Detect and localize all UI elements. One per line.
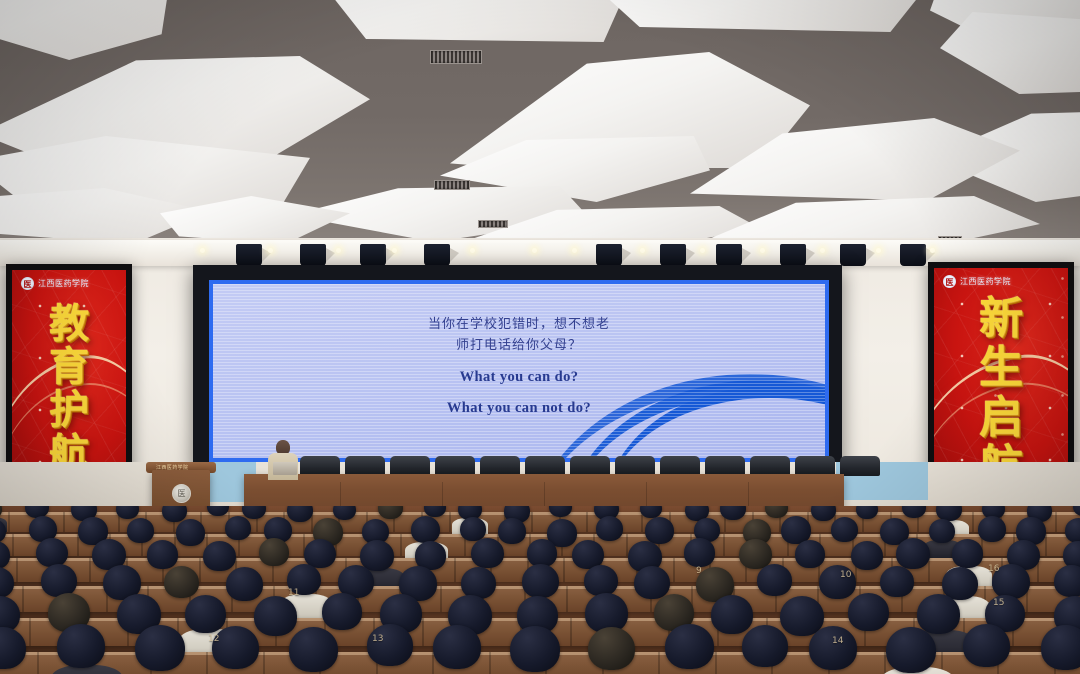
school-wordmark: 江西医药学院 bbox=[38, 278, 89, 289]
presentation-slide: 当你在学校犯错时，想不想老 师打电话给你父母？ What you can do?… bbox=[213, 284, 825, 458]
ceiling-downlight bbox=[532, 248, 537, 253]
banner-logo: 医 江西医药学院 bbox=[21, 277, 89, 290]
seat-divider bbox=[89, 558, 91, 582]
audience-head bbox=[952, 539, 983, 568]
audience-head bbox=[757, 564, 792, 596]
seat-number: 16 bbox=[988, 564, 999, 574]
stage-spotlight bbox=[660, 244, 686, 266]
seat-divider bbox=[563, 558, 565, 582]
audience-head bbox=[929, 519, 955, 543]
seat-divider bbox=[206, 652, 208, 674]
seat-divider bbox=[16, 558, 18, 582]
seat-divider bbox=[29, 618, 31, 646]
audience-head bbox=[127, 518, 154, 543]
audience-head bbox=[254, 596, 297, 636]
audience-head bbox=[896, 538, 930, 569]
audience-head bbox=[212, 626, 259, 669]
seat-number: 9 bbox=[696, 566, 702, 576]
ceiling-panel bbox=[300, 0, 630, 42]
school-crest-icon: 医 bbox=[21, 277, 34, 290]
seat-divider bbox=[570, 618, 572, 646]
school-crest-icon: 医 bbox=[172, 484, 191, 503]
ceiling-panel bbox=[0, 0, 170, 60]
seat-divider bbox=[1045, 534, 1047, 556]
seat-divider bbox=[715, 652, 717, 674]
seat-divider bbox=[1055, 512, 1057, 532]
audience-head bbox=[851, 541, 883, 570]
audience-head bbox=[1054, 565, 1080, 597]
ceiling-downlight bbox=[200, 248, 205, 253]
stage-chair bbox=[840, 456, 880, 476]
audience-head bbox=[1065, 518, 1080, 543]
stage-spotlight bbox=[300, 244, 326, 266]
stage-spotlight bbox=[716, 244, 742, 266]
stage-chair bbox=[345, 456, 385, 476]
seat-divider bbox=[972, 512, 974, 532]
audience-head bbox=[963, 624, 1010, 667]
audience-head bbox=[742, 625, 788, 667]
audience-head bbox=[978, 516, 1006, 542]
left-banner-text: 教 育 护 航 bbox=[12, 304, 126, 475]
audience-head bbox=[809, 626, 857, 670]
audience-head bbox=[711, 595, 753, 634]
stage-chair bbox=[705, 456, 745, 476]
seat-divider bbox=[22, 586, 24, 612]
stage-chair bbox=[570, 456, 610, 476]
audience-head bbox=[147, 540, 178, 569]
banner-char: 教 bbox=[49, 304, 89, 345]
seat-divider bbox=[658, 652, 660, 674]
ceiling-downlight bbox=[336, 248, 341, 253]
ceiling-panel bbox=[600, 0, 930, 32]
auditorium-photo: 医 江西医药学院 教 育 护 航 医 江西医药学院 新 生 启 航 bbox=[0, 0, 1080, 674]
ceiling-downlight bbox=[876, 248, 881, 253]
audience-head bbox=[510, 626, 560, 672]
audience-head bbox=[471, 538, 504, 568]
stage-spotlight bbox=[236, 244, 262, 266]
audience-head bbox=[226, 567, 263, 601]
school-crest-icon: 医 bbox=[943, 275, 956, 288]
ceiling-downlight bbox=[820, 248, 825, 253]
seat-number: 12 bbox=[208, 634, 219, 644]
audience-head bbox=[36, 538, 68, 567]
stage-chair bbox=[525, 456, 565, 476]
audience-head bbox=[645, 517, 674, 544]
stage-spotlight bbox=[840, 244, 866, 266]
audience-head bbox=[185, 595, 226, 633]
seat-number: 14 bbox=[832, 636, 843, 646]
seat-divider bbox=[37, 652, 39, 674]
stage-spotlight bbox=[424, 244, 450, 266]
audience-head bbox=[498, 518, 526, 544]
ceiling-downlight bbox=[392, 248, 397, 253]
stage-chair bbox=[390, 456, 430, 476]
slide-en-line-1: What you can do? bbox=[213, 366, 825, 388]
stage-chair bbox=[795, 456, 835, 476]
air-vent-grille bbox=[430, 50, 482, 64]
stage-spotlight bbox=[900, 244, 926, 266]
seat-divider bbox=[12, 534, 14, 556]
stage-chair bbox=[300, 456, 340, 476]
air-vent-grille bbox=[478, 220, 508, 228]
audience-head bbox=[203, 541, 236, 571]
audience-head bbox=[135, 625, 185, 671]
school-wordmark: 江西医药学院 bbox=[960, 276, 1011, 287]
audience-head bbox=[164, 566, 199, 598]
audience-seating: 121314151191016 bbox=[0, 506, 1080, 674]
stage-spotlight bbox=[596, 244, 622, 266]
ceiling bbox=[0, 0, 1080, 252]
seat-divider bbox=[422, 618, 424, 646]
stage-chair bbox=[660, 456, 700, 476]
audience-head bbox=[1041, 625, 1080, 670]
seat-divider bbox=[440, 586, 442, 612]
ceiling-downlight bbox=[700, 248, 705, 253]
audience-head bbox=[886, 627, 936, 673]
audience-head bbox=[176, 519, 205, 546]
right-banner-text: 新 生 启 航 bbox=[934, 296, 1068, 489]
ceiling-downlight bbox=[470, 248, 475, 253]
audience-head bbox=[848, 593, 889, 631]
ceiling-downlight bbox=[268, 248, 273, 253]
banner-char: 新 bbox=[979, 296, 1023, 341]
banner-logo: 医 江西医药学院 bbox=[943, 275, 1011, 288]
seat-number: 10 bbox=[840, 570, 851, 580]
ceiling-downlight bbox=[640, 248, 645, 253]
audience-head bbox=[831, 517, 858, 542]
seat-divider bbox=[723, 534, 725, 556]
banner-char: 护 bbox=[49, 390, 89, 431]
audience-head bbox=[880, 566, 914, 597]
ceiling-downlight bbox=[930, 248, 935, 253]
seat-divider bbox=[199, 558, 201, 582]
audience-head bbox=[411, 516, 440, 543]
audience-head bbox=[460, 517, 486, 541]
seat-divider bbox=[531, 512, 533, 532]
seat-divider bbox=[8, 512, 10, 532]
audience-head bbox=[225, 516, 251, 540]
stage-chair bbox=[615, 456, 655, 476]
audience-head bbox=[634, 566, 670, 599]
banner-char: 生 bbox=[979, 345, 1023, 390]
seat-divider bbox=[449, 512, 451, 532]
stage-chair bbox=[435, 456, 475, 476]
seat-number: 11 bbox=[288, 588, 299, 598]
seat-divider bbox=[63, 512, 65, 532]
seat-divider bbox=[586, 512, 588, 532]
seat-divider bbox=[673, 558, 675, 582]
audience-head bbox=[367, 624, 413, 666]
stage-chair bbox=[750, 456, 790, 476]
seat-divider bbox=[489, 652, 491, 674]
ceiling-downlight bbox=[572, 248, 577, 253]
audience-head bbox=[917, 594, 960, 634]
slide-en-line-2: What you can not do? bbox=[213, 397, 825, 419]
audience-head bbox=[259, 538, 289, 566]
stage-spotlight bbox=[360, 244, 386, 266]
slide-cn-line-2: 师打电话给你父母？ bbox=[213, 335, 825, 356]
screen-bezel: 当你在学校犯错时，想不想老 师打电话给你父母？ What you can do?… bbox=[209, 280, 829, 462]
audience-head bbox=[527, 539, 557, 567]
laptop bbox=[273, 462, 297, 475]
audience-head bbox=[665, 624, 714, 669]
audience-head bbox=[588, 627, 635, 670]
audience-head bbox=[522, 564, 559, 598]
seat-number: 13 bbox=[372, 634, 383, 644]
seat-divider bbox=[400, 534, 402, 556]
seat-divider bbox=[566, 586, 568, 612]
slide-cn-line-1: 当你在学校犯错时，想不想老 bbox=[213, 314, 825, 335]
stage-chair bbox=[480, 456, 520, 476]
audience-head bbox=[322, 593, 362, 630]
air-vent-grille bbox=[434, 180, 470, 190]
audience-head bbox=[795, 540, 825, 568]
audience-head bbox=[684, 538, 715, 567]
banner-char: 育 bbox=[49, 347, 89, 388]
audience-head bbox=[57, 624, 105, 668]
seat-number: 15 bbox=[993, 598, 1004, 608]
stage-spotlight bbox=[780, 244, 806, 266]
audience-head bbox=[433, 625, 481, 669]
seat-divider bbox=[454, 558, 456, 582]
audience-head bbox=[596, 516, 623, 541]
banner-char: 启 bbox=[979, 395, 1023, 440]
slide-text-block: 当你在学校犯错时，想不想老 师打电话给你父母？ What you can do?… bbox=[213, 284, 825, 420]
audience-head bbox=[289, 627, 338, 672]
audience-head bbox=[41, 564, 77, 597]
audience-head bbox=[584, 565, 618, 596]
seat-divider bbox=[263, 652, 265, 674]
ceiling-downlight bbox=[760, 248, 765, 253]
